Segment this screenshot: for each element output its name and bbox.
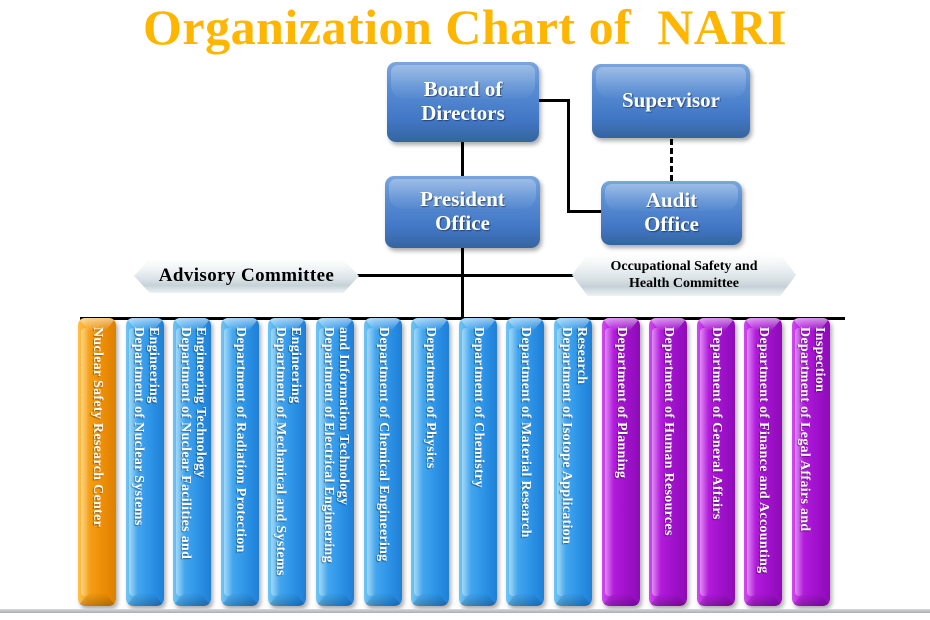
department-column[interactable]: Department of Chemistry [459,318,497,606]
column-highlight [462,328,471,596]
column-highlight [652,328,661,596]
column-highlight [271,328,280,596]
column-highlight [81,328,90,596]
department-column[interactable]: Nuclear Safety Research Center [78,318,116,606]
column-highlight [414,328,423,596]
column-highlight [509,328,518,596]
department-column[interactable]: Department of Chemical Engineering [364,318,402,606]
department-column[interactable]: Department of Physics [411,318,449,606]
organization-chart: Organization Chart of NARI Board of Dire… [0,0,930,620]
department-column[interactable]: Department of Planning [602,318,640,606]
column-highlight [319,328,328,596]
node-board-of-directors-label: Board of Directors [421,78,505,125]
department-column[interactable]: Department of Electrical Engineeringand … [316,318,354,606]
column-highlight [795,328,804,596]
column-highlight [176,328,185,596]
bottom-margin [0,613,930,620]
column-highlight [747,328,756,596]
column-highlight [605,328,614,596]
department-column[interactable]: Department of Finance and Accounting [744,318,782,606]
column-highlight [224,328,233,596]
node-supervisor-label: Supervisor [622,89,720,113]
column-highlight [367,328,376,596]
department-column[interactable]: Department of Material Research [506,318,544,606]
node-audit-office-label: Audit Office [644,189,699,236]
department-column[interactable]: Department of Nuclear Facilities andEngi… [173,318,211,606]
department-column[interactable]: Department of General Affairs [697,318,735,606]
node-president-office-label: President Office [420,188,505,235]
department-column[interactable]: Department of Mechanical and SystemsEngi… [268,318,306,606]
column-highlight [129,328,138,596]
department-column[interactable]: Department of Nuclear SystemsEngineering [126,318,164,606]
column-highlight [557,328,566,596]
column-highlight [700,328,709,596]
department-column[interactable]: Department of Radiation Protection [221,318,259,606]
department-column[interactable]: Department of Human Resources [649,318,687,606]
department-column[interactable]: Department of Legal Affairs andInspectio… [792,318,830,606]
department-column[interactable]: Department of Isotope ApplicationResearc… [554,318,592,606]
